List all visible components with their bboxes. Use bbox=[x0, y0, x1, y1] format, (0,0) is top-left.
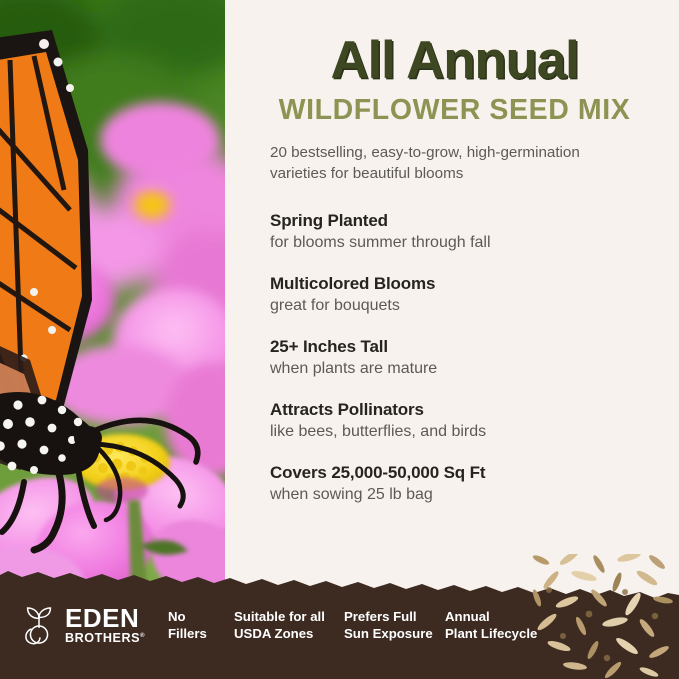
badge-line-1: Annual bbox=[445, 609, 555, 626]
list-item: Spring Planted for blooms summer through… bbox=[270, 210, 639, 254]
product-feature-card: All Annual WILDFLOWER SEED MIX 20 bestse… bbox=[0, 0, 679, 679]
registered-trademark-icon: ® bbox=[140, 633, 145, 639]
eden-brothers-logo[interactable]: EDEN BROTHERS® bbox=[20, 605, 160, 647]
badge-line-2: Plant Lifecycle bbox=[445, 626, 555, 643]
product-description: 20 bestselling, easy-to-grow, high-germi… bbox=[270, 142, 630, 185]
content-panel: All Annual WILDFLOWER SEED MIX 20 bestse… bbox=[225, 0, 679, 620]
product-photo bbox=[0, 0, 225, 620]
feature-subtitle: like bees, butterflies, and birds bbox=[270, 422, 639, 443]
status-badge: Annual Plant Lifecycle bbox=[445, 609, 555, 643]
badge-line-1: Prefers Full bbox=[344, 609, 445, 626]
feature-title: Covers 25,000-50,000 Sq Ft bbox=[270, 462, 639, 483]
logo-wordmark: EDEN BROTHERS® bbox=[65, 606, 145, 646]
footer-badge-list: No Fillers Suitable for all USDA Zones P… bbox=[168, 609, 679, 643]
product-subtitle: WILDFLOWER SEED MIX bbox=[270, 96, 639, 125]
badge-line-1: No bbox=[168, 609, 234, 626]
badge-line-1: Suitable for all bbox=[234, 609, 344, 626]
sprout-seed-icon bbox=[20, 605, 58, 647]
list-item: Attracts Pollinators like bees, butterfl… bbox=[270, 399, 639, 443]
list-item: Multicolored Blooms great for bouquets bbox=[270, 273, 639, 317]
page-title: All Annual bbox=[270, 34, 639, 87]
logo-secondary-label: BROTHERS bbox=[65, 631, 140, 645]
butterfly-flower-photo-illustration bbox=[0, 0, 225, 620]
feature-title: Multicolored Blooms bbox=[270, 273, 639, 294]
feature-title: Attracts Pollinators bbox=[270, 399, 639, 420]
status-badge: No Fillers bbox=[168, 609, 234, 643]
feature-title: Spring Planted bbox=[270, 210, 639, 231]
logo-primary-text: EDEN bbox=[65, 606, 145, 631]
feature-subtitle: for blooms summer through fall bbox=[270, 233, 639, 254]
status-badge: Suitable for all USDA Zones bbox=[234, 609, 344, 643]
feature-subtitle: when plants are mature bbox=[270, 359, 639, 380]
list-item: Covers 25,000-50,000 Sq Ft when sowing 2… bbox=[270, 462, 639, 506]
list-item: 25+ Inches Tall when plants are mature bbox=[270, 336, 639, 380]
footer-bar: EDEN BROTHERS® No Fillers Suitable for a… bbox=[0, 559, 679, 679]
footer-content: EDEN BROTHERS® No Fillers Suitable for a… bbox=[0, 559, 679, 679]
badge-line-2: Fillers bbox=[168, 626, 234, 643]
feature-title: 25+ Inches Tall bbox=[270, 336, 639, 357]
badge-line-2: USDA Zones bbox=[234, 626, 344, 643]
feature-subtitle: great for bouquets bbox=[270, 296, 639, 317]
feature-list: Spring Planted for blooms summer through… bbox=[270, 210, 639, 506]
feature-subtitle: when sowing 25 lb bag bbox=[270, 485, 639, 506]
logo-secondary-text: BROTHERS® bbox=[65, 632, 145, 646]
status-badge: Prefers Full Sun Exposure bbox=[344, 609, 445, 643]
badge-line-2: Sun Exposure bbox=[344, 626, 445, 643]
